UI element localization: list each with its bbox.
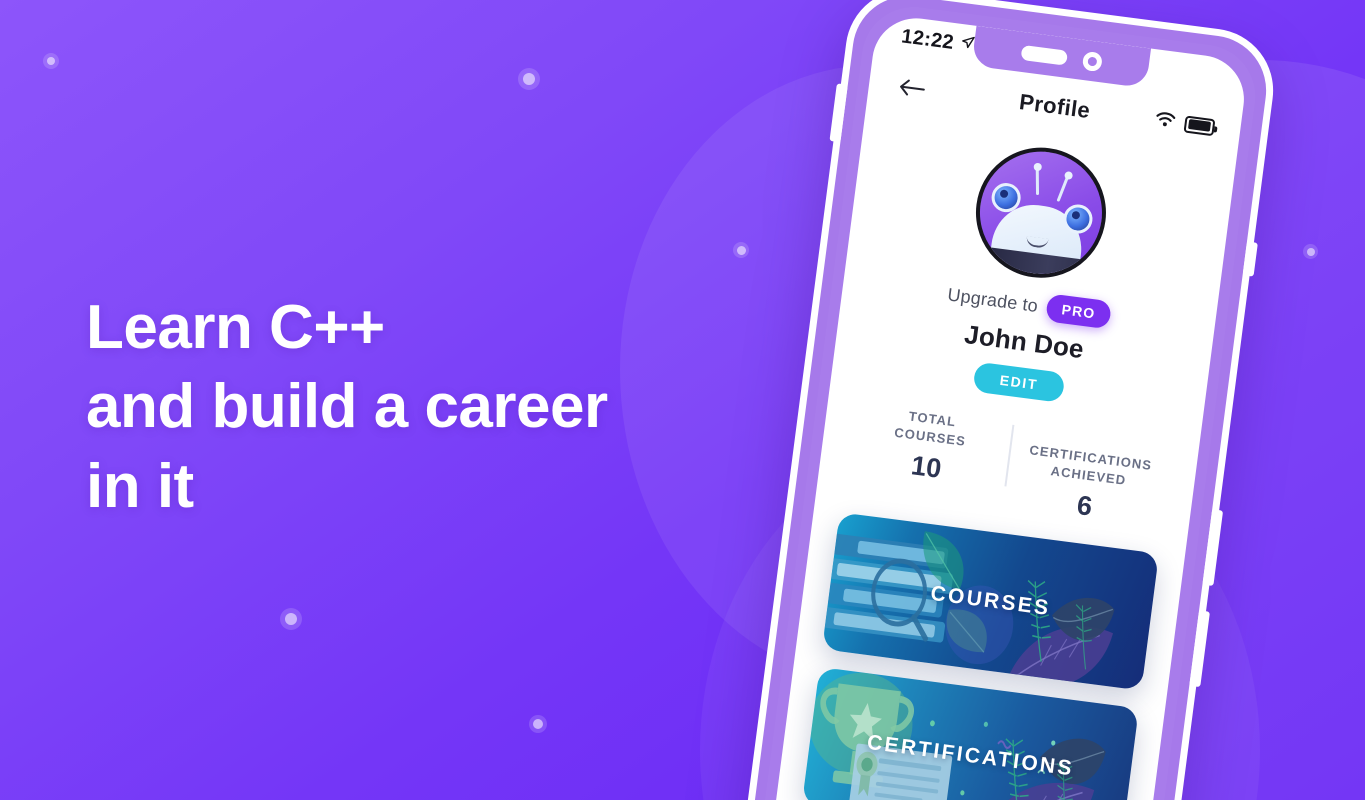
stat-certifications-achieved: CERTIFICATIONS ACHIEVED 6 [1003, 421, 1173, 532]
decor-dot [529, 715, 547, 733]
location-arrow-icon [958, 34, 975, 56]
edit-profile-button[interactable]: EDIT [972, 362, 1065, 403]
antenna-left-icon [1036, 169, 1039, 195]
phone-button-power[interactable] [1243, 241, 1258, 276]
stat-total-courses: TOTAL COURSES 10 [845, 400, 1013, 493]
phone-button-mute[interactable] [829, 83, 847, 142]
decor-dot [1303, 244, 1318, 259]
card-courses[interactable]: COURSES [822, 512, 1159, 690]
decor-dot [43, 53, 59, 69]
avatar[interactable] [968, 140, 1114, 286]
decor-dot [518, 68, 540, 90]
decor-dot [280, 608, 302, 630]
stat-label-line2: COURSES [894, 424, 967, 448]
headline-line-3: in it [86, 447, 706, 526]
headline-line-2: and build a career [86, 367, 706, 446]
phone-mockup: 12:22 Profile [645, 0, 1296, 800]
pro-badge[interactable]: PRO [1045, 293, 1112, 329]
card-certifications[interactable]: CERTIFICATIONS [802, 667, 1139, 800]
phone-button-volume-up[interactable] [1202, 509, 1223, 586]
promo-headline: Learn C++ and build a career in it [86, 288, 706, 526]
card-label: COURSES [822, 512, 1159, 690]
cards-list: COURSES [802, 512, 1159, 800]
phone-button-volume-down[interactable] [1189, 610, 1210, 687]
card-label: CERTIFICATIONS [802, 667, 1139, 800]
promo-screenshot: Learn C++ and build a career in it 12:22 [0, 0, 1365, 800]
battery-full-icon [1184, 115, 1216, 136]
stats-row: TOTAL COURSES 10 CERTIFICATIONS ACHIEVED [843, 400, 1174, 532]
upgrade-label: Upgrade to [946, 284, 1039, 317]
phone-frame: 12:22 Profile [738, 0, 1280, 800]
headline-line-1: Learn C++ [86, 288, 706, 367]
antenna-right-icon [1057, 177, 1069, 202]
profile-content: Upgrade to PRO John Doe EDIT TOTAL COURS… [776, 108, 1237, 800]
status-clock: 12:22 [900, 25, 955, 55]
